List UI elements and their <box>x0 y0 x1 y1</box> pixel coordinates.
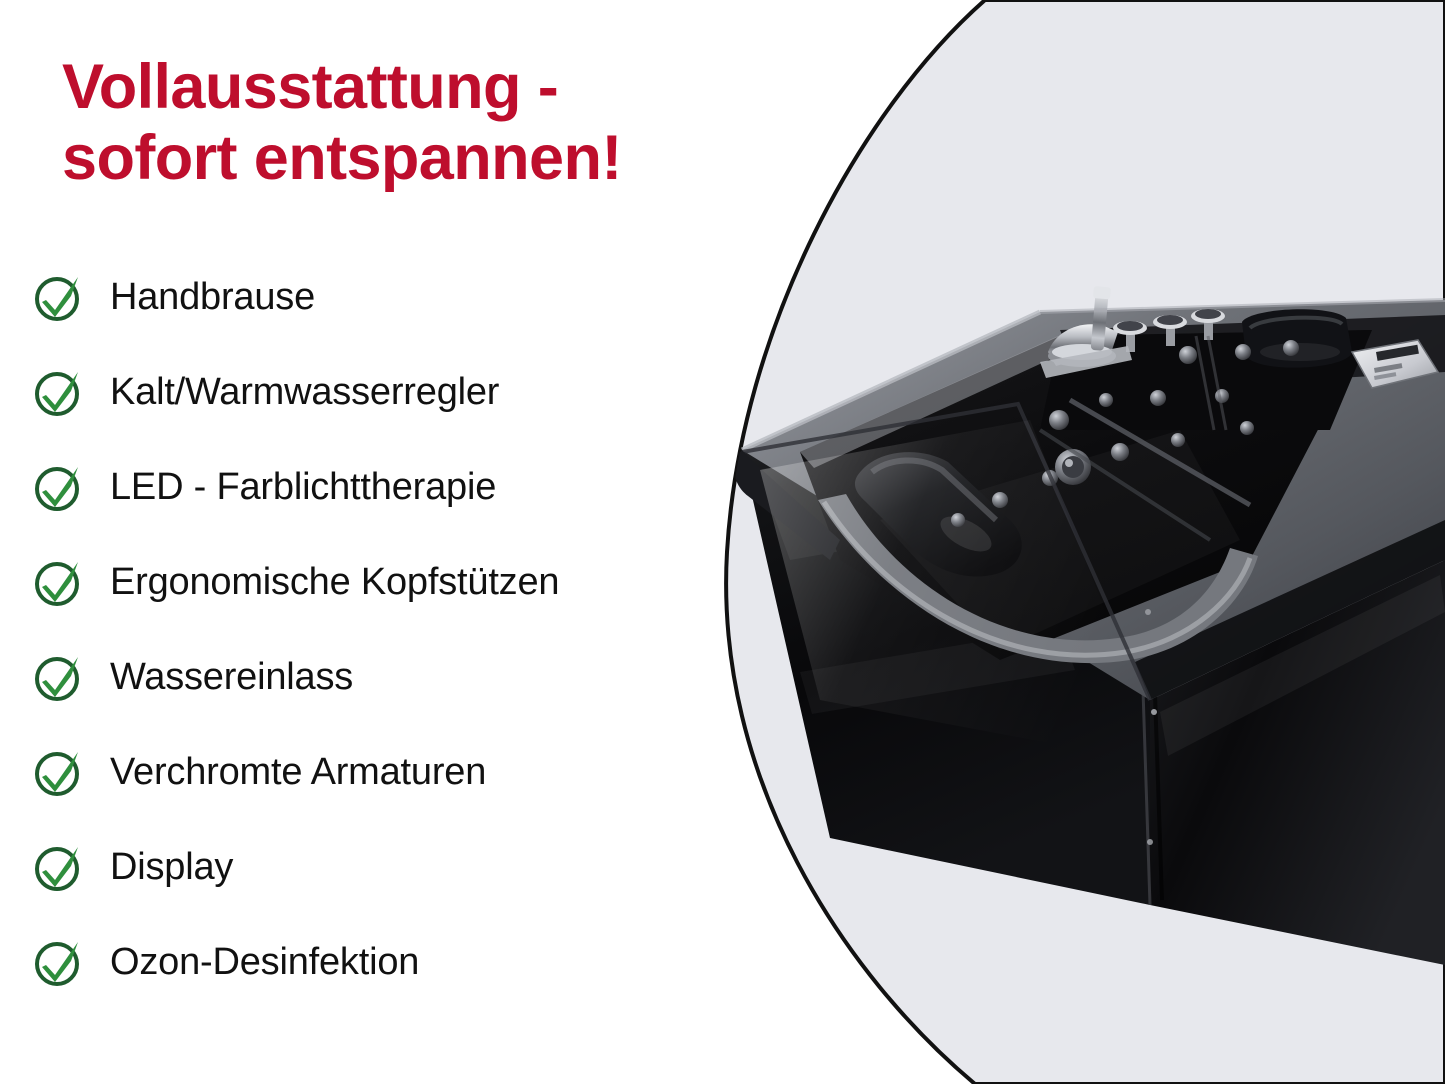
list-item: Handbrause <box>30 249 720 344</box>
page-title: Vollausstattung - sofort entspannen! <box>62 52 762 193</box>
list-item: Kalt/Warmwasserregler <box>30 344 720 439</box>
feature-list: Handbrause Kalt/Warmwasserregler <box>30 249 720 1009</box>
list-item-label: Wassereinlass <box>110 658 353 696</box>
check-circle-icon <box>30 364 86 420</box>
check-circle-icon <box>30 934 86 990</box>
list-item: Ergonomische Kopfstützen <box>30 534 720 629</box>
check-circle-icon <box>30 744 86 800</box>
list-item-label: Ozon-Desinfektion <box>110 943 419 981</box>
list-item: Verchromte Armaturen <box>30 724 720 819</box>
product-feature-poster: Vollausstattung - sofort entspannen! Han… <box>0 0 1445 1084</box>
check-circle-icon <box>30 649 86 705</box>
list-item: Ozon-Desinfektion <box>30 914 720 1009</box>
left-content-column: Vollausstattung - sofort entspannen! Han… <box>0 0 720 1084</box>
list-item-label: LED - Farblichttherapie <box>110 468 496 506</box>
check-circle-icon <box>30 839 86 895</box>
check-circle-icon <box>30 554 86 610</box>
list-item: Display <box>30 819 720 914</box>
check-circle-icon <box>30 269 86 325</box>
list-item-label: Kalt/Warmwasserregler <box>110 373 499 411</box>
check-circle-icon <box>30 459 86 515</box>
list-item-label: Ergonomische Kopfstützen <box>110 563 559 601</box>
list-item: LED - Farblichttherapie <box>30 439 720 534</box>
list-item-label: Verchromte Armaturen <box>110 753 486 791</box>
list-item-label: Display <box>110 848 233 886</box>
list-item-label: Handbrause <box>110 278 315 316</box>
list-item: Wassereinlass <box>30 629 720 724</box>
